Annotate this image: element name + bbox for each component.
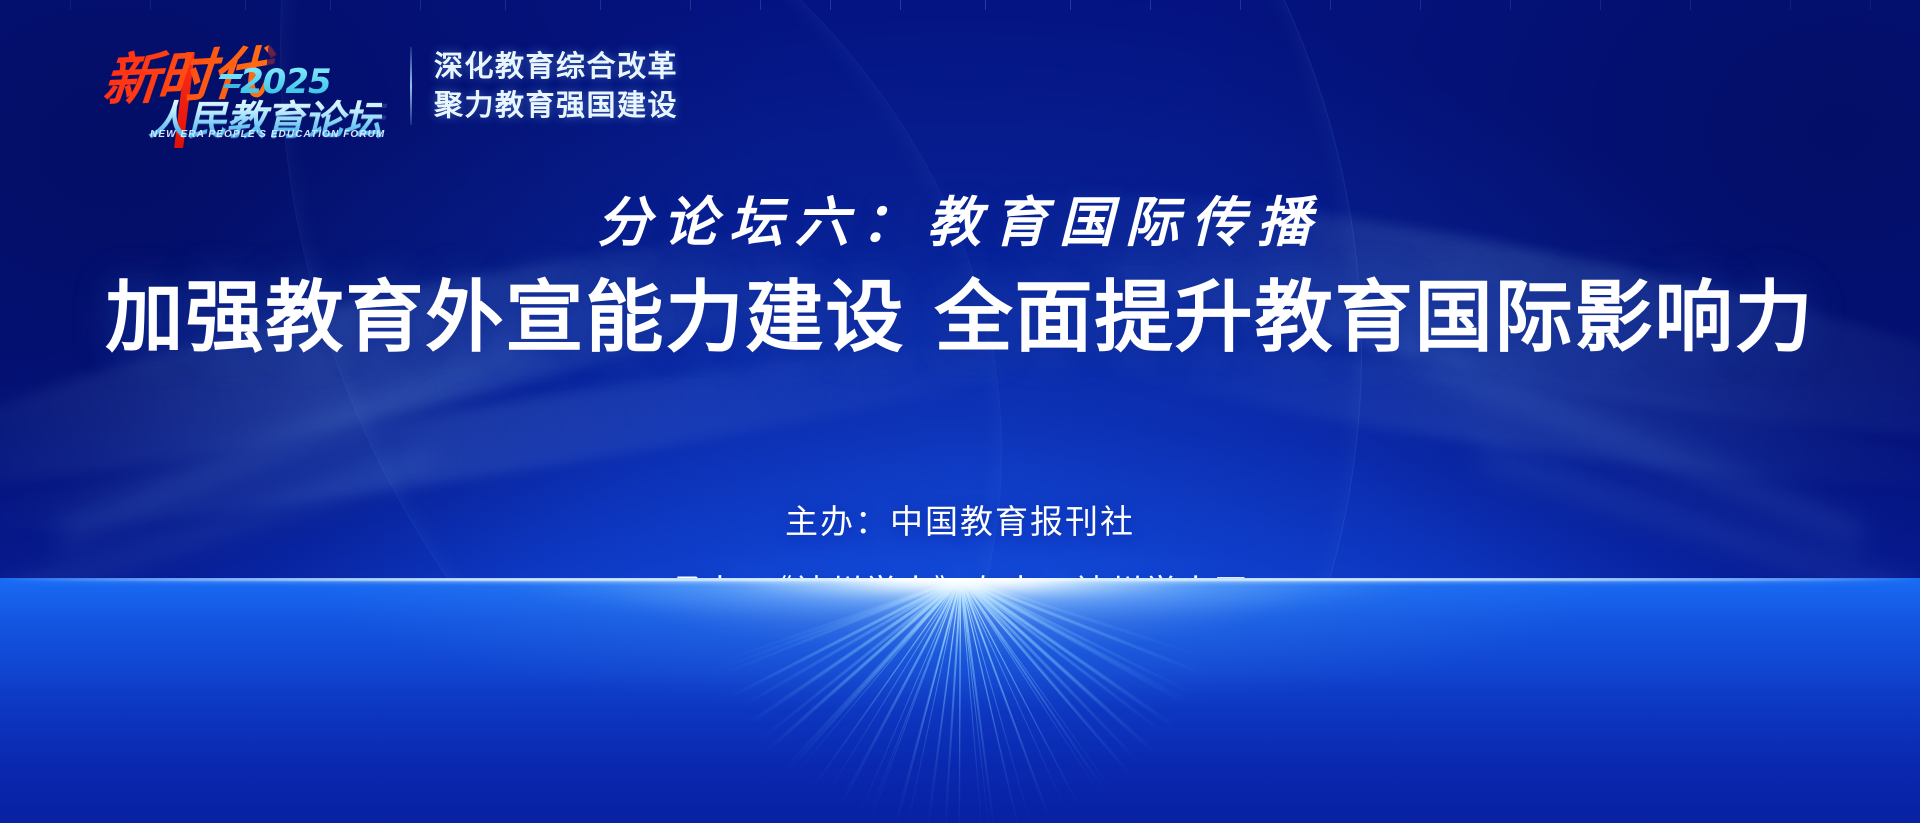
forum-logo-lockup: 新时代 2025 人民教育论坛 NEW ERA PEOPLE'S EDUCATI… xyxy=(88,30,678,142)
floor-shadow xyxy=(0,673,1920,823)
banner-headline: 加强教育外宣能力建设 全面提升教育国际影响力 xyxy=(0,275,1920,362)
vertical-light-line xyxy=(985,0,986,10)
horizon-core-light xyxy=(730,578,1190,598)
vertical-light-line xyxy=(1510,0,1511,10)
vertical-light-line xyxy=(690,0,691,10)
logo-divider xyxy=(410,47,412,125)
vertical-line-group xyxy=(0,0,1920,10)
vertical-light-line xyxy=(830,0,831,10)
vertical-light-line xyxy=(1870,0,1871,10)
session-subtitle: 分论坛六：教育国际传播 xyxy=(0,178,1920,257)
vertical-light-line xyxy=(600,0,601,10)
vertical-light-line xyxy=(150,0,151,10)
vertical-light-line xyxy=(1240,0,1241,10)
forum-slogan: 深化教育综合改革 聚力教育强国建设 xyxy=(434,49,678,124)
vertical-light-line xyxy=(505,0,506,10)
vertical-light-line xyxy=(1150,0,1151,10)
vertical-light-line xyxy=(1790,0,1791,10)
perspective-floor xyxy=(0,578,1920,823)
logo-english-name: NEW ERA PEOPLE'S EDUCATION FORUM xyxy=(150,129,385,140)
vertical-light-line xyxy=(420,0,421,10)
forum-slogan-line-1: 深化教育综合改革 xyxy=(434,49,678,84)
conference-banner: 新时代 2025 人民教育论坛 NEW ERA PEOPLE'S EDUCATI… xyxy=(0,0,1920,823)
vertical-light-line xyxy=(760,0,761,10)
vertical-light-line xyxy=(245,0,246,10)
vertical-light-line xyxy=(70,0,71,10)
vertical-light-line xyxy=(900,0,901,10)
forum-logo-mark: 新时代 2025 人民教育论坛 NEW ERA PEOPLE'S EDUCATI… xyxy=(88,30,388,142)
vertical-light-line xyxy=(1690,0,1691,10)
vertical-light-line xyxy=(330,0,331,10)
vertical-light-line xyxy=(1420,0,1421,10)
vertical-light-line xyxy=(1600,0,1601,10)
vertical-light-line xyxy=(1330,0,1331,10)
organizer-host: 主办：中国教育报刊社 xyxy=(0,495,1920,543)
forum-slogan-line-2: 聚力教育强国建设 xyxy=(434,88,678,123)
vertical-light-line xyxy=(1070,0,1071,10)
